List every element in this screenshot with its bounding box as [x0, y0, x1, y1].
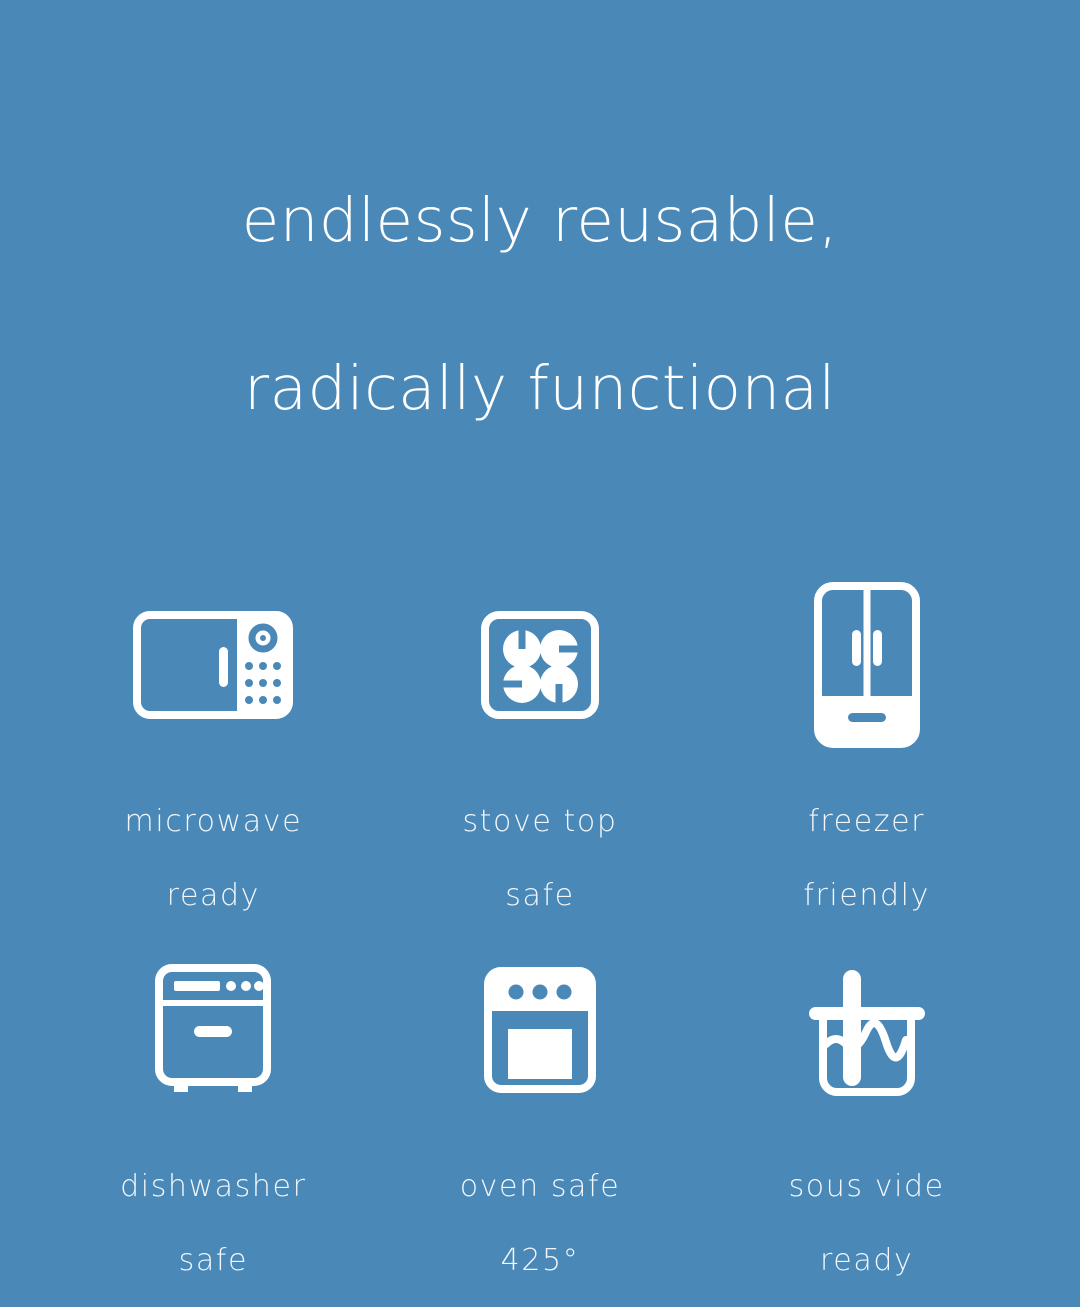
feature-label-dishwasher: dishwasher safe: [120, 1131, 306, 1279]
feature-item-oven: oven safe 425°: [377, 942, 704, 1307]
feature-label-line-1: freezer: [808, 804, 925, 839]
feature-label-microwave: microwave ready: [125, 766, 303, 914]
feature-label-freezer: freezer friendly: [803, 766, 930, 914]
microwave-icon: [133, 577, 293, 752]
dishwasher-icon: [152, 942, 274, 1117]
feature-label-line-1: dishwasher: [120, 1169, 306, 1204]
feature-item-stove-top: stove top safe: [377, 577, 704, 942]
page-title-line-1: endlessly reusable,: [242, 179, 839, 263]
stove-top-icon: [481, 577, 599, 752]
feature-label-line-1: stove top: [462, 804, 617, 839]
feature-item-freezer: freezer friendly: [703, 577, 1030, 942]
feature-item-dishwasher: dishwasher safe: [50, 942, 377, 1307]
feature-label-line-1: microwave: [125, 804, 303, 839]
feature-label-line-2: friendly: [803, 878, 930, 913]
feature-graphic: endlessly reusable, radically functional: [0, 0, 1080, 1080]
oven-icon: [484, 942, 596, 1117]
page-title: endlessly reusable, radically functional: [242, 95, 839, 515]
feature-grid: microwave ready: [50, 577, 1030, 1307]
feature-label-line-1: oven safe: [460, 1169, 621, 1204]
page-title-line-2: radically functional: [242, 347, 839, 431]
feature-label-line-2: safe: [505, 878, 574, 913]
feature-label-line-2: 425°: [501, 1243, 580, 1278]
feature-label-line-2: ready: [820, 1243, 913, 1278]
feature-item-sous-vide: sous vide ready: [703, 942, 1030, 1307]
feature-label-oven: oven safe 425°: [460, 1131, 621, 1279]
sous-vide-icon: [797, 942, 937, 1117]
feature-item-microwave: microwave ready: [50, 577, 377, 942]
feature-label-stove-top: stove top safe: [462, 766, 617, 914]
freezer-icon: [814, 577, 920, 752]
feature-label-line-1: sous vide: [789, 1169, 945, 1204]
feature-label-sous-vide: sous vide ready: [789, 1131, 945, 1279]
feature-label-line-2: safe: [179, 1243, 248, 1278]
feature-label-line-2: ready: [167, 878, 260, 913]
